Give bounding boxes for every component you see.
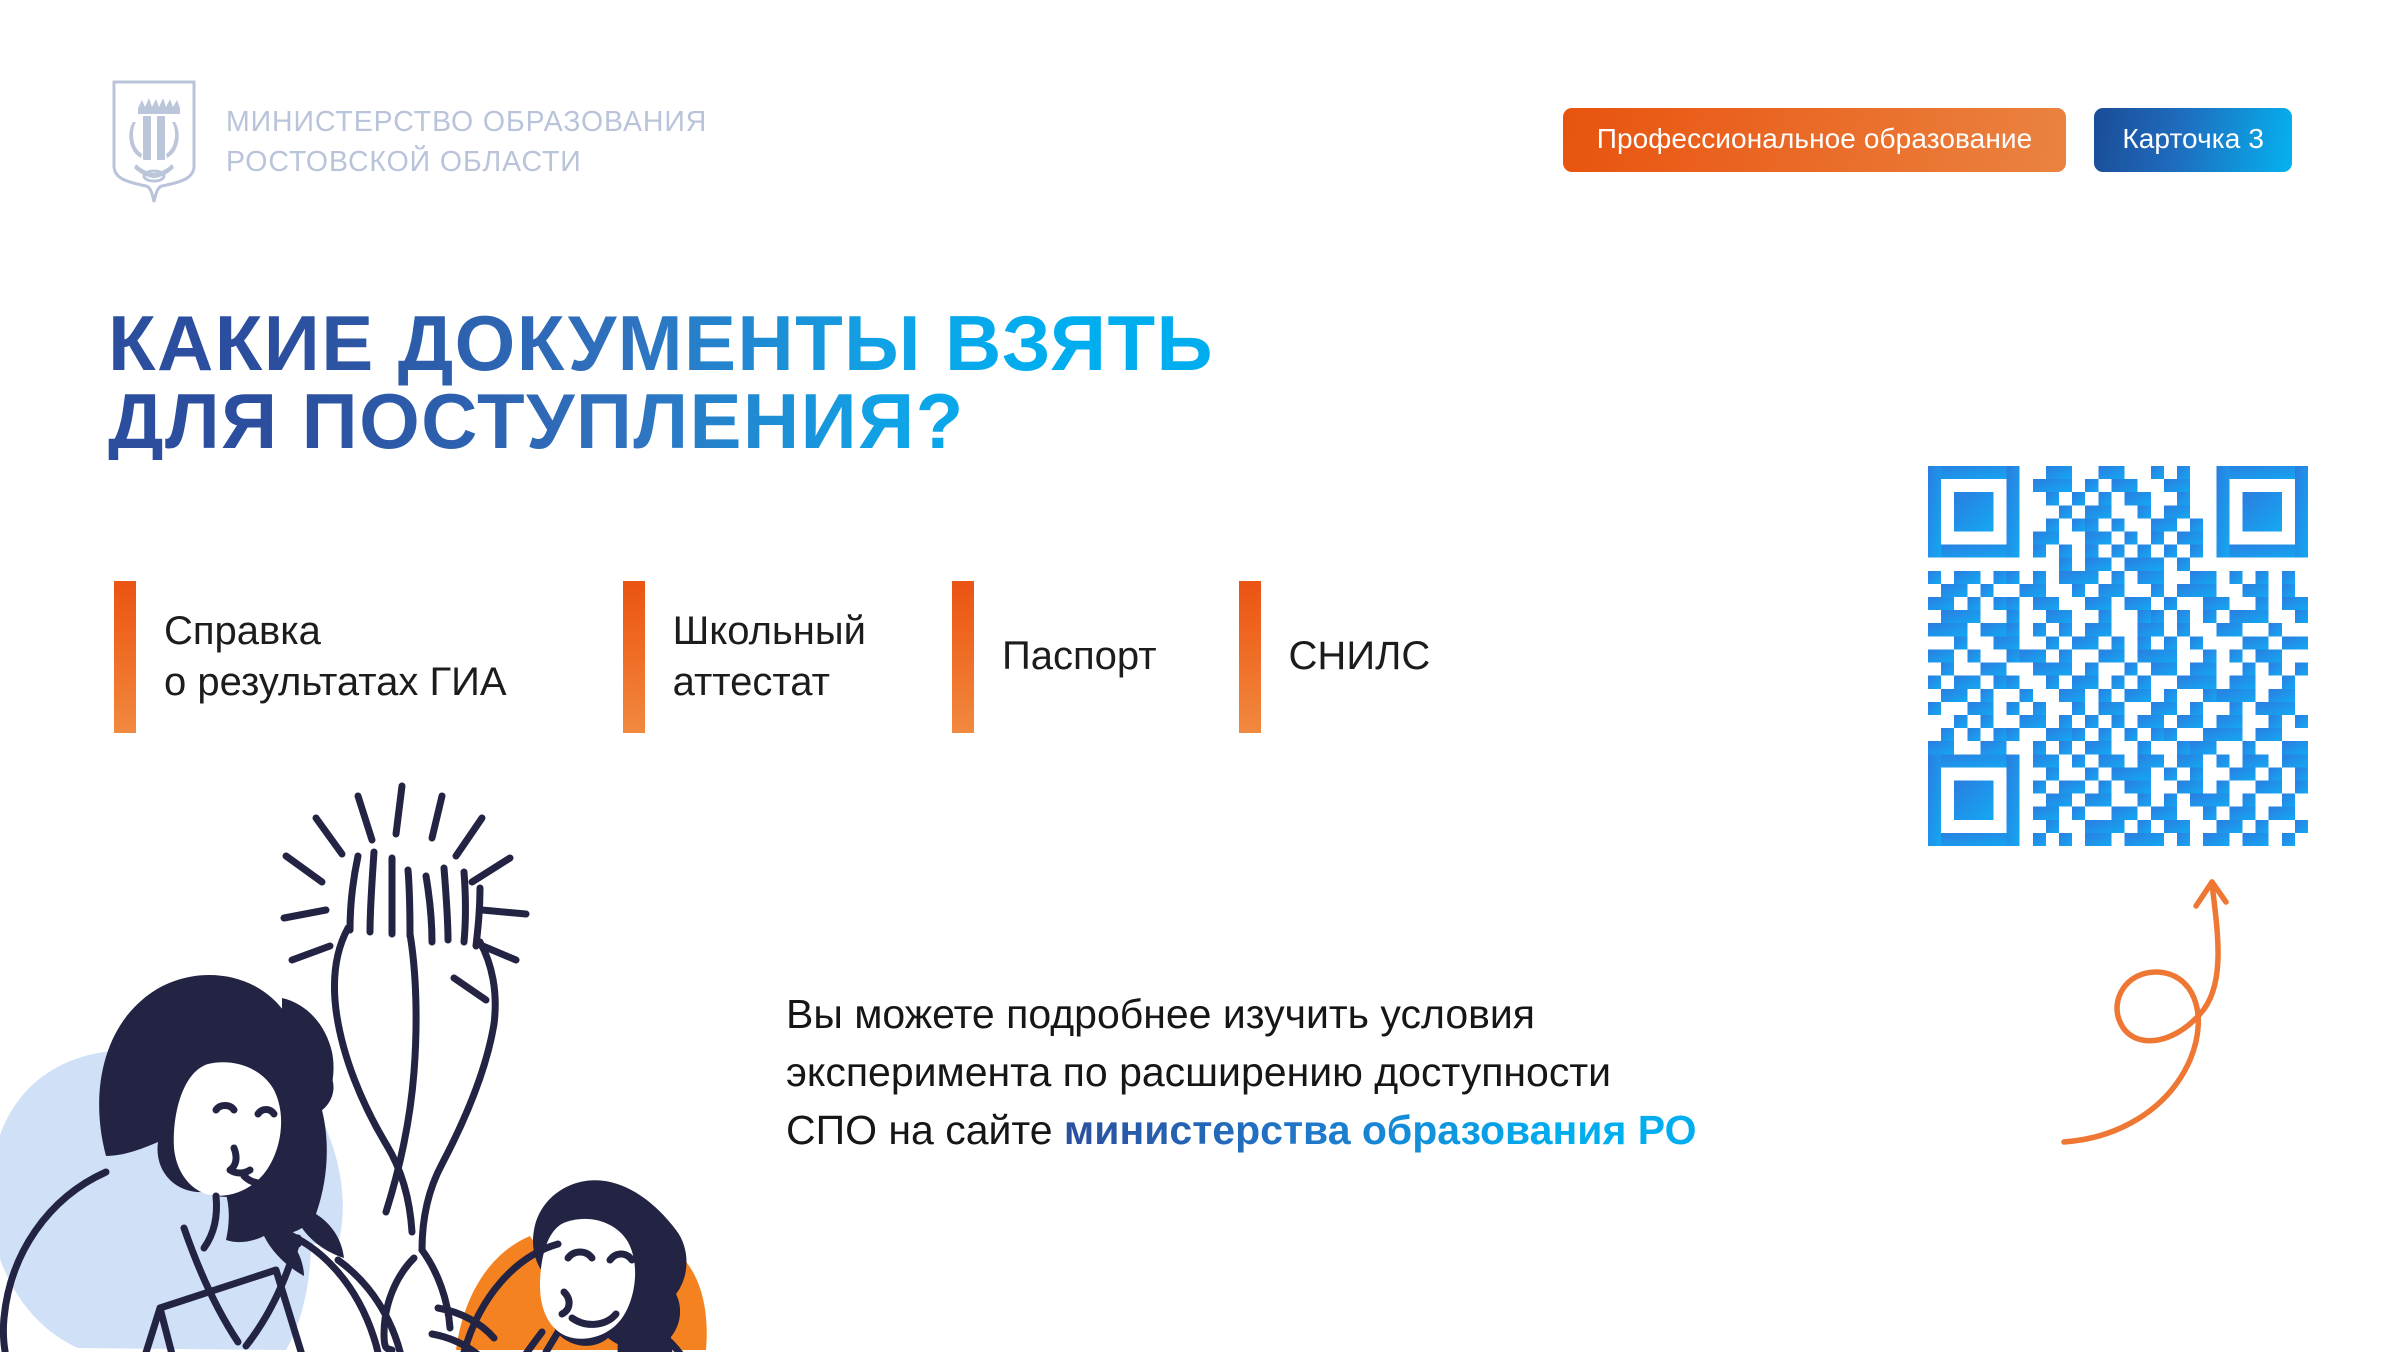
badge-card-number[interactable]: Карточка 3 — [2094, 108, 2292, 172]
page-title: Какие документы взять для поступления? — [108, 304, 1214, 460]
list-item: Справка о результатах ГИА — [114, 581, 507, 733]
document-label: Школьный аттестат — [645, 581, 866, 733]
info-line-3-prefix: СПО на сайте — [786, 1107, 1064, 1153]
documents-list: Справка о результатах ГИА Школьный аттес… — [114, 581, 1430, 733]
qr-code-icon[interactable] — [1928, 466, 2308, 846]
info-paragraph: Вы можете подробнее изучить условия эксп… — [786, 985, 1966, 1160]
ministry-site-link[interactable]: министерства образования РО — [1064, 1107, 1697, 1153]
document-label: Паспорт — [974, 581, 1157, 733]
document-label: СНИЛС — [1261, 581, 1431, 733]
ministry-logo-text: МИНИСТЕРСТВО ОБРАЗОВАНИЯРОСТОВСКОЙ ОБЛАС… — [226, 102, 707, 183]
ministry-logo-line2: РОСТОВСКОЙ ОБЛАСТИ — [226, 146, 582, 178]
list-item: СНИЛС — [1239, 581, 1431, 733]
header-badges: Профессиональное образование Карточка 3 — [1563, 108, 2292, 172]
orange-marker-icon — [623, 581, 645, 733]
rostov-region-coat-of-arms-icon — [108, 78, 200, 206]
ministry-logo-line1: МИНИСТЕРСТВО ОБРАЗОВАНИЯ — [226, 106, 707, 138]
list-item: Паспорт — [952, 581, 1157, 733]
ministry-logo: МИНИСТЕРСТВО ОБРАЗОВАНИЯРОСТОВСКОЙ ОБЛАС… — [108, 78, 707, 206]
document-label: Справка о результатах ГИА — [136, 581, 507, 733]
high-five-illustration — [0, 752, 806, 1352]
badge-category[interactable]: Профессиональное образование — [1563, 108, 2067, 172]
info-line-3: СПО на сайте министерства образования РО — [786, 1101, 1966, 1159]
curly-arrow-up-icon — [2060, 860, 2360, 1170]
list-item: Школьный аттестат — [623, 581, 866, 733]
info-line-1: Вы можете подробнее изучить условия — [786, 985, 1966, 1043]
orange-marker-icon — [952, 581, 974, 733]
orange-marker-icon — [1239, 581, 1261, 733]
orange-marker-icon — [114, 581, 136, 733]
info-line-2: эксперимента по расширению доступности — [786, 1043, 1966, 1101]
